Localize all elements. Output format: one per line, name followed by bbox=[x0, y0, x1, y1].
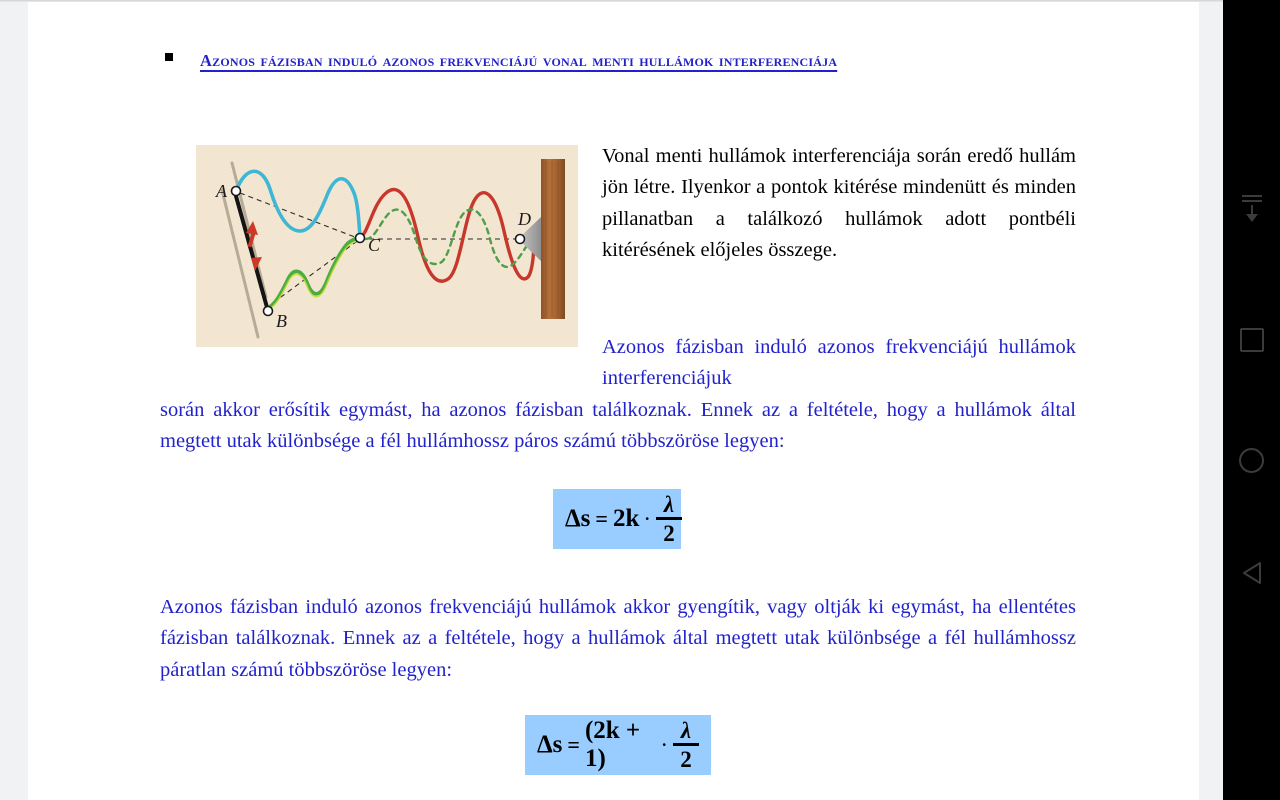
formula-constructive: Δs = 2k · λ 2 bbox=[553, 489, 681, 549]
formula-lhs: Δs bbox=[565, 505, 590, 533]
section-heading: Azonos fázisban induló azonos frekvenciá… bbox=[160, 44, 1080, 78]
square-bullet-icon bbox=[165, 53, 173, 61]
svg-text:B: B bbox=[276, 311, 287, 331]
svg-text:C: C bbox=[368, 235, 381, 255]
svg-text:D: D bbox=[517, 209, 531, 229]
formula-term: (2k + 1) bbox=[585, 717, 656, 773]
formula-denominator: 2 bbox=[663, 520, 675, 545]
android-navigation-bar bbox=[1223, 0, 1280, 800]
back-button[interactable] bbox=[1223, 547, 1280, 603]
back-icon bbox=[1240, 560, 1264, 591]
paragraph-constructive-intro: Azonos fázisban induló azonos frekvenciá… bbox=[602, 332, 1076, 395]
formula-fraction: λ 2 bbox=[656, 493, 682, 545]
svg-text:A: A bbox=[215, 181, 228, 201]
document-viewer[interactable]: Azonos fázisban induló azonos frekvenciá… bbox=[0, 0, 1223, 800]
home-icon bbox=[1239, 448, 1264, 473]
paragraph-destructive: Azonos fázisban induló azonos frekvenciá… bbox=[160, 592, 1076, 686]
section-heading-text: Azonos fázisban induló azonos frekvenciá… bbox=[200, 44, 1080, 78]
collapse-navbar-button[interactable] bbox=[1223, 180, 1280, 236]
collapse-navbar-icon bbox=[1241, 195, 1263, 221]
formula-numerator: λ bbox=[664, 493, 674, 517]
formula-multiplication-dot: · bbox=[661, 735, 667, 755]
formula-term: 2k bbox=[613, 505, 639, 533]
formula-fraction: λ 2 bbox=[673, 719, 699, 771]
formula-equals: = bbox=[595, 506, 608, 532]
recents-button[interactable] bbox=[1223, 312, 1280, 368]
screen: Azonos fázisban induló azonos frekvenciá… bbox=[0, 0, 1280, 800]
paragraph-constructive-continued: során akkor erősítik egymást, ha azonos … bbox=[160, 395, 1076, 458]
formula-multiplication-dot: · bbox=[644, 509, 650, 529]
formula-lhs: Δs bbox=[537, 731, 562, 759]
formula-numerator: λ bbox=[681, 719, 691, 743]
formula-destructive: Δs = (2k + 1) · λ 2 bbox=[525, 715, 711, 775]
document-page[interactable]: Azonos fázisban induló azonos frekvenciá… bbox=[28, 2, 1199, 800]
recents-icon bbox=[1240, 328, 1264, 352]
formula-denominator: 2 bbox=[680, 746, 692, 771]
formula-equals: = bbox=[567, 732, 580, 758]
paragraph-definition: Vonal menti hullámok interferenciája sor… bbox=[602, 141, 1076, 266]
figure-illustration: A B C D bbox=[196, 145, 578, 347]
home-button[interactable] bbox=[1223, 432, 1280, 488]
wave-interference-figure: A B C D bbox=[196, 145, 578, 347]
